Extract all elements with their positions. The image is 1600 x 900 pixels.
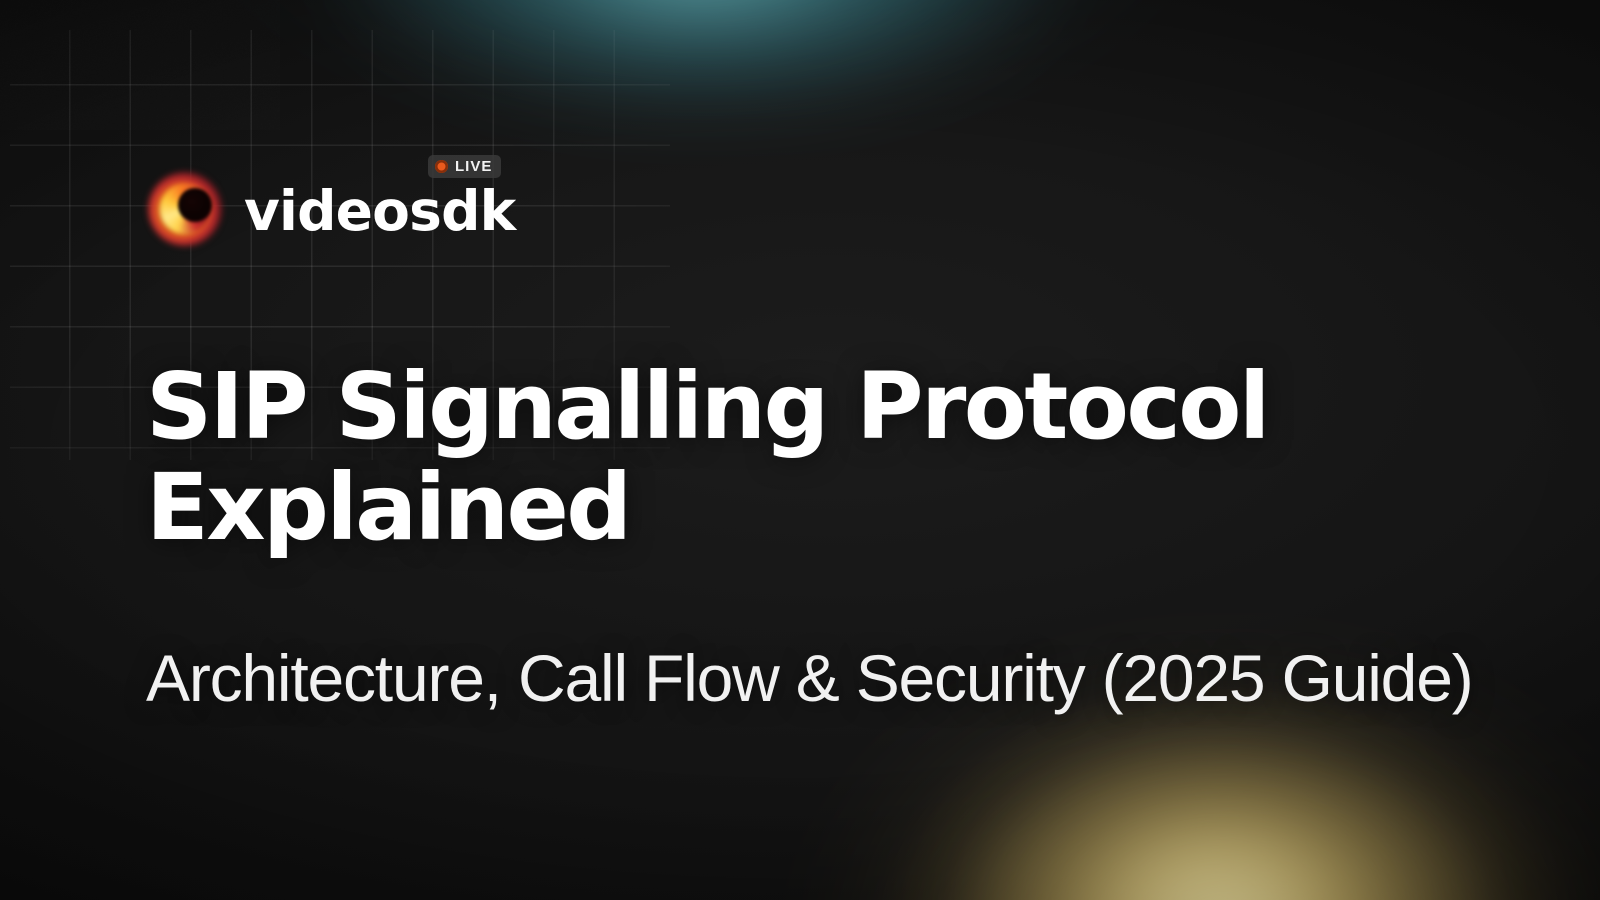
cover-content: videosdk LIVE SIP Signalling Protocol Ex… xyxy=(0,0,1600,900)
logo-core xyxy=(178,188,212,222)
page-subtitle: Architecture, Call Flow & Security (2025… xyxy=(146,638,1476,719)
status-badge: LIVE xyxy=(428,155,501,178)
page-title: SIP Signalling Protocol Explained xyxy=(146,356,1436,558)
brand-lockup: videosdk xyxy=(148,172,515,246)
brand-wordmark: videosdk xyxy=(244,184,515,239)
live-badge-label: LIVE xyxy=(455,159,492,174)
record-dot-icon xyxy=(435,160,448,173)
cover-canvas: videosdk LIVE SIP Signalling Protocol Ex… xyxy=(0,0,1600,900)
videosdk-eclipse-logo-icon xyxy=(148,172,222,246)
